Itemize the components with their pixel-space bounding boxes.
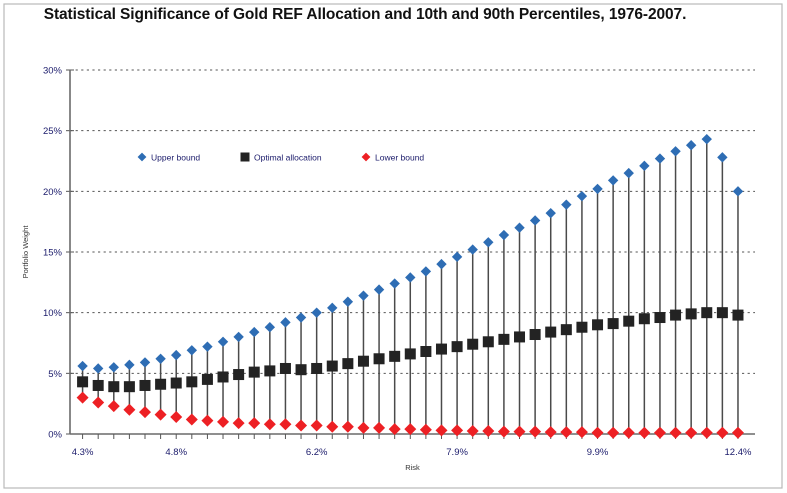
upper-bound-marker xyxy=(124,360,134,370)
lower-bound-marker xyxy=(592,427,604,439)
lower-bound-marker xyxy=(201,415,213,427)
optimal-allocation-marker xyxy=(436,344,447,355)
upper-bound-marker xyxy=(296,312,306,322)
optimal-allocation-marker xyxy=(405,348,416,359)
lower-bound-marker xyxy=(357,422,369,434)
upper-bound-marker xyxy=(436,259,446,269)
lower-bound-marker xyxy=(685,427,697,439)
optimal-allocation-marker xyxy=(389,351,400,362)
upper-bound-marker xyxy=(327,303,337,313)
upper-bound-marker xyxy=(389,278,399,288)
optimal-allocation-marker xyxy=(498,334,509,345)
upper-bound-marker xyxy=(109,362,119,372)
upper-bound-marker xyxy=(140,357,150,367)
upper-bound-marker xyxy=(218,337,228,347)
optimal-allocation-marker xyxy=(280,363,291,374)
upper-bound-marker xyxy=(280,317,290,327)
lower-bound-marker xyxy=(607,427,619,439)
upper-bound-marker xyxy=(483,237,493,247)
y-tick-label-15: 15% xyxy=(43,248,63,259)
optimal-allocation-marker xyxy=(311,363,322,374)
upper-bound-marker xyxy=(202,341,212,351)
optimal-allocation-marker xyxy=(218,371,229,382)
lower-bound-marker xyxy=(170,411,182,423)
lower-bound-marker xyxy=(373,422,385,434)
optimal-allocation-marker xyxy=(108,381,119,392)
lower-bound-marker xyxy=(233,417,245,429)
x-axis-title: Risk xyxy=(405,463,420,472)
lower-bound-marker xyxy=(311,420,323,432)
upper-bound-marker xyxy=(702,134,712,144)
x-tick-label-3: 7.9% xyxy=(446,447,468,458)
upper-bound-marker xyxy=(639,161,649,171)
upper-bound-marker xyxy=(311,307,321,317)
optimal-allocation-marker xyxy=(545,327,556,338)
upper-bound-marker xyxy=(155,354,165,364)
lower-bound-marker xyxy=(77,392,89,404)
lower-bound-marker xyxy=(482,425,494,437)
lower-bound-marker xyxy=(279,418,291,430)
upper-bound-marker xyxy=(171,350,181,360)
legend-marker-2 xyxy=(362,153,371,162)
optimal-allocation-marker xyxy=(155,379,166,390)
upper-bound-marker xyxy=(717,152,727,162)
upper-bound-marker xyxy=(670,146,680,156)
optimal-allocation-marker xyxy=(140,380,151,391)
x-tick-label-4: 9.9% xyxy=(587,447,609,458)
upper-bound-marker xyxy=(655,153,665,163)
upper-bound-marker xyxy=(265,322,275,332)
upper-bound-marker xyxy=(452,252,462,262)
optimal-allocation-marker xyxy=(420,346,431,357)
optimal-allocation-marker xyxy=(249,367,260,378)
optimal-allocation-marker xyxy=(686,308,697,319)
lower-bound-marker xyxy=(467,425,479,437)
legend-label-0: Upper bound xyxy=(151,152,200,162)
optimal-allocation-marker xyxy=(483,336,494,347)
upper-bound-marker xyxy=(530,215,540,225)
optimal-allocation-marker xyxy=(639,313,650,324)
legend-label-1: Optimal allocation xyxy=(254,152,322,162)
lower-bound-marker xyxy=(342,421,354,433)
lower-bound-marker xyxy=(545,426,557,438)
optimal-allocation-marker xyxy=(296,364,307,375)
y-axis-title: Portfolio Weight xyxy=(21,225,30,279)
optimal-allocation-marker xyxy=(623,316,634,327)
legend-marker-0 xyxy=(138,153,147,162)
legend-label-2: Lower bound xyxy=(375,152,424,162)
upper-bound-marker xyxy=(421,266,431,276)
lower-bound-marker xyxy=(732,427,744,439)
x-tick-label-0: 4.3% xyxy=(72,447,94,458)
upper-bound-marker xyxy=(624,168,634,178)
lower-bound-marker xyxy=(139,406,151,418)
optimal-allocation-marker xyxy=(608,318,619,329)
upper-bound-marker xyxy=(358,290,368,300)
lower-bound-marker xyxy=(155,409,167,421)
lower-bound-marker xyxy=(560,426,572,438)
optimal-allocation-marker xyxy=(530,329,541,340)
optimal-allocation-marker xyxy=(186,376,197,387)
optimal-allocation-marker xyxy=(670,310,681,321)
lower-bound-marker xyxy=(217,416,229,428)
x-tick-label-1: 4.8% xyxy=(165,447,187,458)
legend-marker-1 xyxy=(241,153,250,162)
lower-bound-marker xyxy=(326,421,338,433)
x-tick-label-5: 12.4% xyxy=(725,447,752,458)
lower-bound-marker xyxy=(638,427,650,439)
statistical-significance-chart: 0%5%10%15%20%25%30%4.3%4.8%6.2%7.9%9.9%1… xyxy=(0,0,787,493)
optimal-allocation-marker xyxy=(732,310,743,321)
upper-bound-marker xyxy=(343,297,353,307)
upper-bound-marker xyxy=(93,363,103,373)
upper-bound-marker xyxy=(514,223,524,233)
upper-bound-marker xyxy=(467,244,477,254)
y-tick-label-25: 25% xyxy=(43,126,63,137)
upper-bound-marker xyxy=(733,186,743,196)
optimal-allocation-marker xyxy=(93,380,104,391)
optimal-allocation-marker xyxy=(592,319,603,330)
y-tick-label-10: 10% xyxy=(43,308,63,319)
optimal-allocation-marker xyxy=(233,369,244,380)
optimal-allocation-marker xyxy=(264,365,275,376)
optimal-allocation-marker xyxy=(171,378,182,389)
lower-bound-marker xyxy=(670,427,682,439)
y-tick-label-0: 0% xyxy=(48,430,62,441)
lower-bound-marker xyxy=(623,427,635,439)
optimal-allocation-marker xyxy=(467,339,478,350)
lower-bound-marker xyxy=(701,427,713,439)
y-tick-label-30: 30% xyxy=(43,66,63,77)
lower-bound-marker xyxy=(654,427,666,439)
upper-bound-marker xyxy=(546,208,556,218)
lower-bound-marker xyxy=(92,396,104,408)
optimal-allocation-marker xyxy=(717,307,728,318)
optimal-allocation-marker xyxy=(342,358,353,369)
lower-bound-marker xyxy=(529,426,541,438)
upper-bound-marker xyxy=(233,332,243,342)
optimal-allocation-marker xyxy=(202,374,213,385)
upper-bound-marker xyxy=(592,184,602,194)
optimal-allocation-marker xyxy=(77,376,88,387)
upper-bound-marker xyxy=(608,175,618,185)
x-tick-label-2: 6.2% xyxy=(306,447,328,458)
optimal-allocation-marker xyxy=(654,312,665,323)
optimal-allocation-marker xyxy=(514,331,525,342)
chart-container: 0%5%10%15%20%25%30%4.3%4.8%6.2%7.9%9.9%1… xyxy=(0,0,787,493)
upper-bound-marker xyxy=(686,140,696,150)
lower-bound-marker xyxy=(295,420,307,432)
upper-bound-marker xyxy=(374,284,384,294)
optimal-allocation-marker xyxy=(327,361,338,372)
upper-bound-marker xyxy=(187,345,197,355)
optimal-allocation-marker xyxy=(576,322,587,333)
optimal-allocation-marker xyxy=(374,353,385,364)
lower-bound-marker xyxy=(576,426,588,438)
upper-bound-marker xyxy=(561,199,571,209)
optimal-allocation-marker xyxy=(452,341,463,352)
optimal-allocation-marker xyxy=(701,307,712,318)
y-tick-label-5: 5% xyxy=(48,369,62,380)
upper-bound-marker xyxy=(577,191,587,201)
lower-bound-marker xyxy=(264,418,276,430)
lower-bound-marker xyxy=(716,427,728,439)
lower-bound-marker xyxy=(498,426,510,438)
upper-bound-marker xyxy=(499,230,509,240)
y-tick-label-20: 20% xyxy=(43,187,63,198)
optimal-allocation-marker xyxy=(561,324,572,335)
upper-bound-marker xyxy=(77,361,87,371)
lower-bound-marker xyxy=(123,404,135,416)
optimal-allocation-marker xyxy=(124,381,135,392)
upper-bound-marker xyxy=(249,327,259,337)
lower-bound-marker xyxy=(108,400,120,412)
optimal-allocation-marker xyxy=(358,356,369,367)
lower-bound-marker xyxy=(186,413,198,425)
lower-bound-marker xyxy=(248,417,260,429)
upper-bound-marker xyxy=(405,272,415,282)
lower-bound-marker xyxy=(514,426,526,438)
